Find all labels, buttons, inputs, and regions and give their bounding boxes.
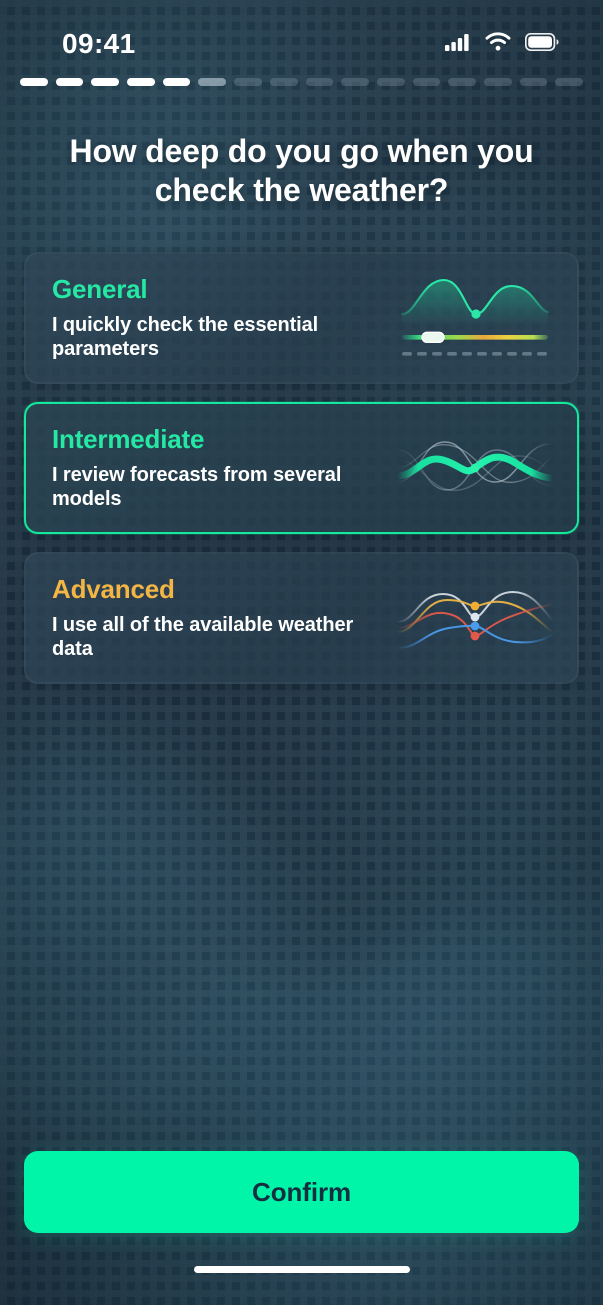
progress-segment bbox=[163, 78, 191, 86]
progress-segment bbox=[520, 78, 548, 86]
wifi-icon bbox=[485, 32, 511, 56]
progress-segment bbox=[20, 78, 48, 86]
option-list: General I quickly check the essential pa… bbox=[0, 210, 603, 684]
flexible-spacer bbox=[0, 684, 603, 1151]
home-indicator[interactable] bbox=[194, 1266, 410, 1273]
cellular-signal-icon bbox=[445, 33, 471, 56]
progress-segment bbox=[555, 78, 583, 86]
progress-segment bbox=[91, 78, 119, 86]
option-card-advanced-text: Advanced I use all of the available weat… bbox=[26, 575, 387, 661]
multi-wave-highlight-graphic bbox=[387, 418, 563, 518]
option-card-intermediate[interactable]: Intermediate I review forecasts from sev… bbox=[24, 402, 579, 534]
option-card-intermediate-description: I review forecasts from several models bbox=[52, 463, 377, 511]
option-card-general[interactable]: General I quickly check the essential pa… bbox=[24, 252, 579, 384]
progress-segment bbox=[270, 78, 298, 86]
option-card-general-description: I quickly check the essential parameters bbox=[52, 313, 377, 361]
option-card-advanced-title: Advanced bbox=[52, 575, 377, 604]
option-card-intermediate-text: Intermediate I review forecasts from sev… bbox=[26, 425, 387, 511]
onboarding-progress-bar bbox=[0, 70, 603, 86]
option-card-advanced-description: I use all of the available weather data bbox=[52, 613, 377, 661]
option-card-advanced[interactable]: Advanced I use all of the available weat… bbox=[24, 552, 579, 684]
page-title: How deep do you go when you check the we… bbox=[0, 86, 603, 210]
progress-segment bbox=[484, 78, 512, 86]
progress-segment bbox=[377, 78, 405, 86]
progress-segment bbox=[341, 78, 369, 86]
progress-segment bbox=[448, 78, 476, 86]
progress-segment bbox=[127, 78, 155, 86]
confirm-button[interactable]: Confirm bbox=[24, 1151, 579, 1233]
footer-actions: Confirm bbox=[0, 1151, 603, 1233]
four-color-wave-graphic bbox=[387, 568, 563, 668]
battery-full-icon bbox=[525, 33, 559, 56]
progress-segment bbox=[198, 78, 226, 86]
status-bar-icons bbox=[445, 32, 559, 56]
option-card-general-title: General bbox=[52, 275, 377, 304]
progress-segment bbox=[56, 78, 84, 86]
progress-segment bbox=[234, 78, 262, 86]
option-card-intermediate-title: Intermediate bbox=[52, 425, 377, 454]
status-bar-clock: 09:41 bbox=[62, 28, 136, 60]
app-screen: 09:41 bbox=[0, 0, 603, 1305]
option-card-general-text: General I quickly check the essential pa… bbox=[26, 275, 387, 361]
progress-segment bbox=[306, 78, 334, 86]
single-wave-slider-graphic bbox=[387, 268, 563, 368]
home-indicator-area bbox=[0, 1233, 603, 1305]
progress-segment bbox=[413, 78, 441, 86]
status-bar: 09:41 bbox=[0, 0, 603, 70]
